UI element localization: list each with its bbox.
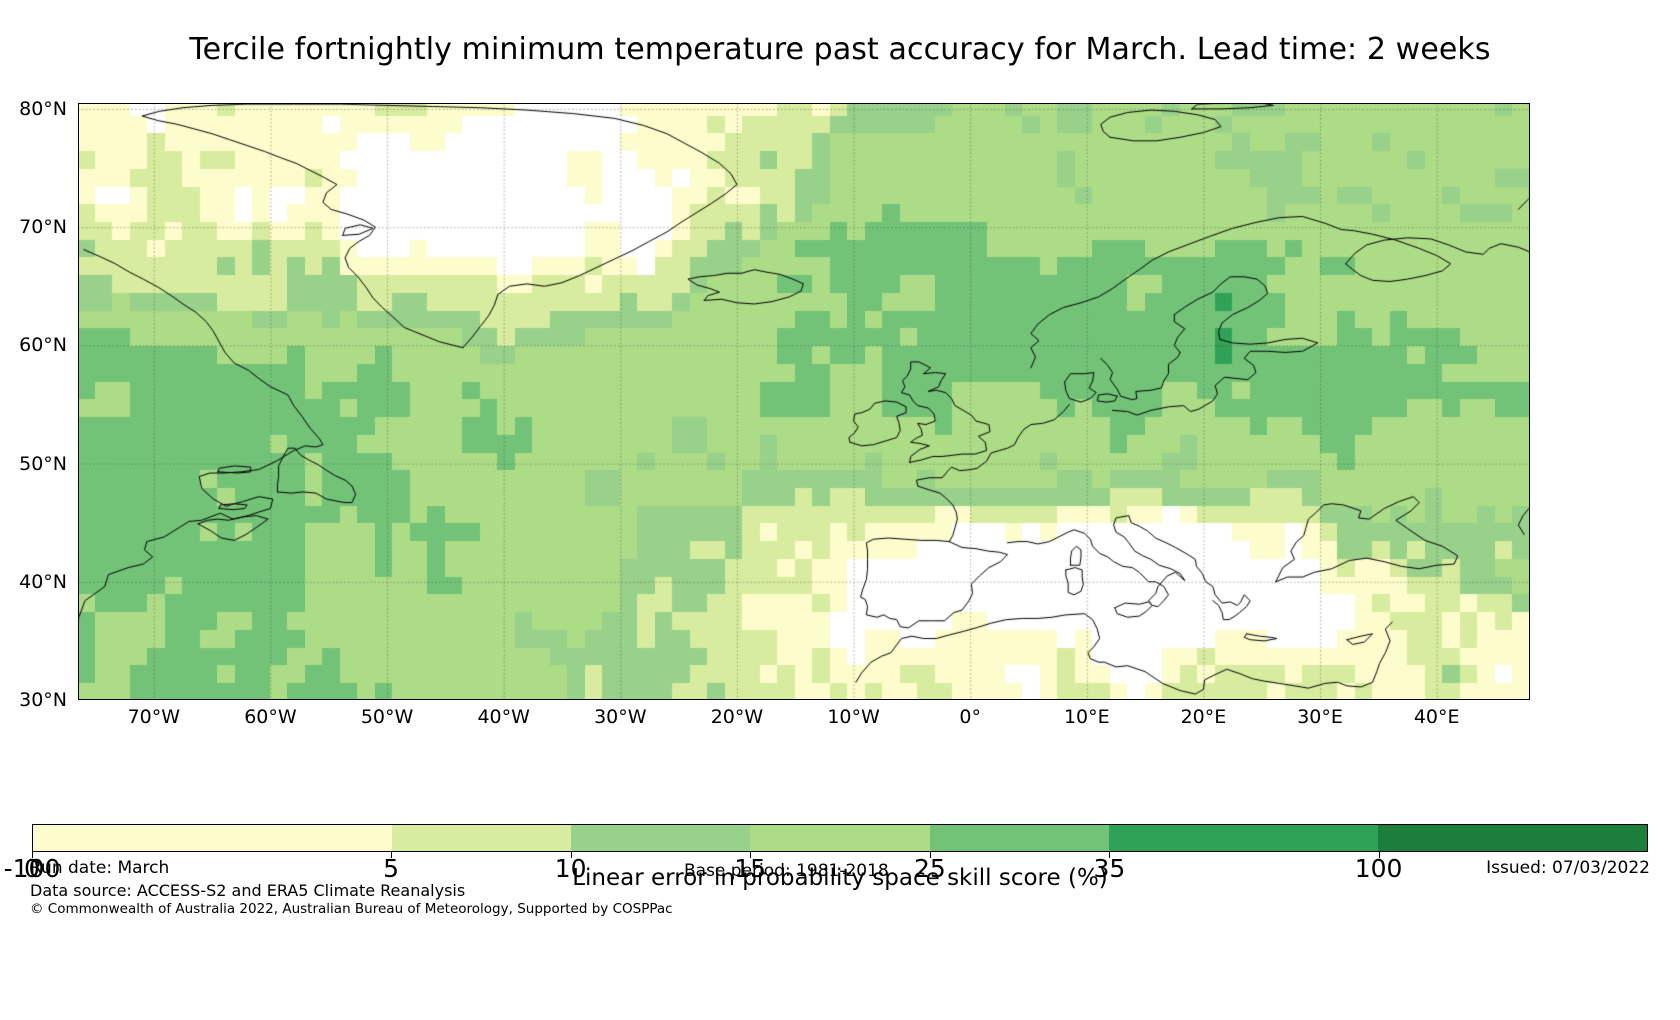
skill-score-heatmap: [78, 103, 1530, 700]
colorbar-tick-mark: [1109, 852, 1110, 858]
latitude-tick-label: 70°N: [0, 216, 78, 238]
longitude-tick-label: 10°W: [827, 706, 879, 728]
latitude-tick-label: 80°N: [0, 98, 78, 120]
longitude-tick-label: 10°E: [1064, 706, 1110, 728]
longitude-tick-label: 50°W: [361, 706, 413, 728]
longitude-tick-label: 20°W: [711, 706, 763, 728]
colorbar-tick-mark: [930, 852, 931, 858]
colorbar-tick-mark: [1379, 852, 1380, 858]
latitude-tick-label: 30°N: [0, 689, 78, 711]
footer-issued-date: Issued: 07/03/2022: [1486, 858, 1650, 878]
latitude-tick-label: 40°N: [0, 571, 78, 593]
colorbar-segment: [930, 825, 1109, 851]
longitude-tick-label: 40°E: [1414, 706, 1460, 728]
colorbar-segment: [571, 825, 750, 851]
colorbar-gradient: [32, 824, 1648, 852]
colorbar-tick-mark: [391, 852, 392, 858]
longitude-tick-label: 30°E: [1297, 706, 1343, 728]
page-title: Tercile fortnightly minimum temperature …: [0, 32, 1680, 67]
colorbar-tick-mark: [750, 852, 751, 858]
latitude-tick-label: 60°N: [0, 334, 78, 356]
colorbar-segment: [750, 825, 929, 851]
longitude-tick-label: 60°W: [244, 706, 296, 728]
colorbar-tick-mark: [571, 852, 572, 858]
longitude-tick-label: 0°: [959, 706, 981, 728]
colorbar-segment: [392, 825, 571, 851]
colorbar-segment: [33, 825, 392, 851]
longitude-tick-label: 70°W: [128, 706, 180, 728]
colorbar-segment: [1378, 825, 1647, 851]
footer-base-period: Base period: 1981-2018: [684, 861, 889, 881]
longitude-tick-label: 40°W: [477, 706, 529, 728]
map-plot-area: [78, 103, 1530, 700]
colorbar-segment: [1109, 825, 1378, 851]
footer-run-date: Run date: March: [30, 858, 169, 878]
colorbar: -1000510152535100: [32, 824, 1648, 852]
latitude-tick-label: 50°N: [0, 453, 78, 475]
footer-copyright: © Commonwealth of Australia 2022, Austra…: [30, 901, 673, 917]
footer-data-source: Data source: ACCESS-S2 and ERA5 Climate …: [30, 881, 465, 900]
longitude-tick-label: 20°E: [1181, 706, 1227, 728]
longitude-tick-label: 30°W: [594, 706, 646, 728]
